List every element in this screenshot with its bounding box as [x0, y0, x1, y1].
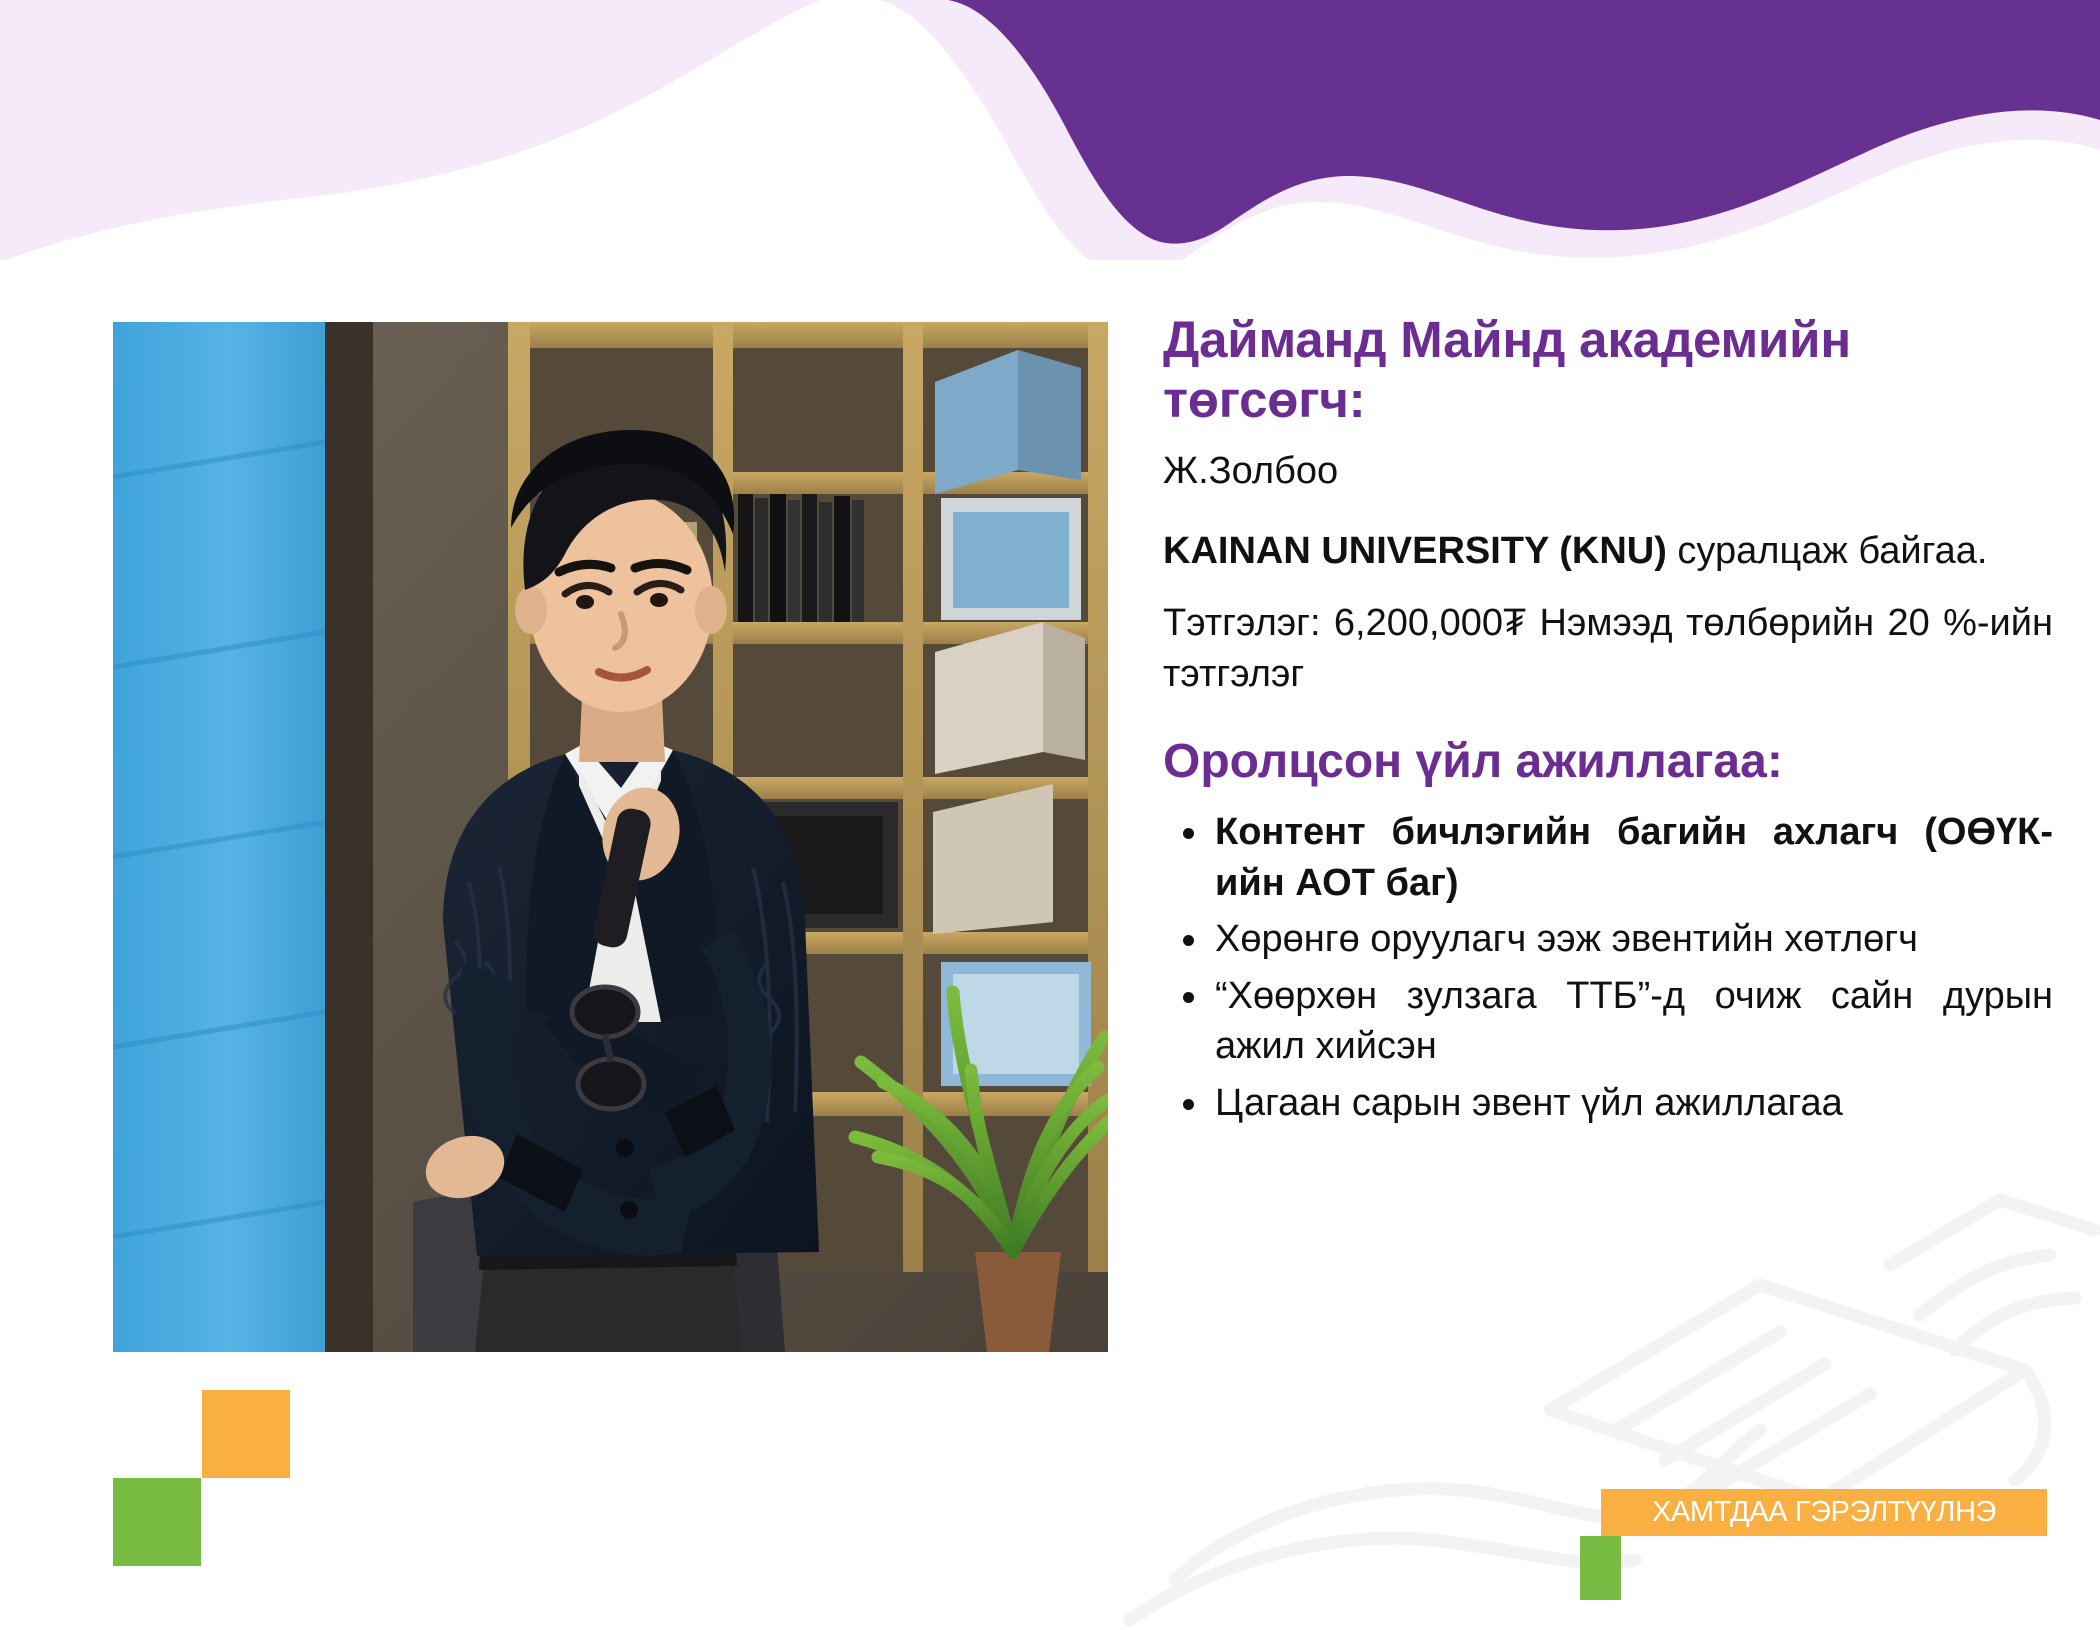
graduate-photo: [113, 322, 1108, 1352]
university-status: суралцаж байгаа.: [1667, 530, 1988, 572]
decor-square-green: [113, 1478, 201, 1566]
wave-lavender-shape: [0, 0, 2100, 260]
top-wave-decoration: [0, 0, 2100, 260]
wave-purple-shape: [930, 0, 2100, 244]
footer-slogan-text: ХАМТДАА ГЭРЭЛТҮҮЛНЭ: [1652, 1496, 1996, 1529]
activities-title: Оролцсон үйл ажиллагаа:: [1163, 733, 2053, 791]
slide-canvas: Дайманд Майнд академийн төгсөгч: Ж.Золбо…: [0, 0, 2100, 1630]
footer-slogan-banner: ХАМТДАА ГЭРЭЛТҮҮЛНЭ: [1601, 1489, 2047, 1536]
list-item: Цагаан сарын эвент үйл ажиллагаа: [1163, 1078, 2053, 1129]
activities-list: Контент бичлэгийн багийн ахлагч (ОӨҮК-ий…: [1163, 807, 2053, 1128]
scholarship-line: Тэтгэлэг: 6,200,000₮ Нэмээд төлбөрийн 20…: [1163, 598, 2053, 699]
decor-square-orange: [202, 1390, 290, 1478]
university-name: KAINAN UNIVERSITY (KNU): [1163, 530, 1667, 572]
graduate-name: Ж.Золбоо: [1163, 448, 2053, 496]
list-item: “Хөөрхөн зулзага ТТБ”-д очиж сайн дурын …: [1163, 971, 2053, 1072]
list-item: Контент бичлэгийн багийн ахлагч (ОӨҮК-ий…: [1163, 807, 2053, 908]
university-line: KAINAN UNIVERSITY (KNU) суралцаж байгаа.: [1163, 526, 2053, 577]
content-column: Дайманд Майнд академийн төгсөгч: Ж.Золбо…: [1163, 310, 2053, 1134]
footer-green-accent: [1580, 1536, 1621, 1600]
graduate-photo-illustration: [113, 322, 1108, 1352]
page-title: Дайманд Майнд академийн төгсөгч:: [1163, 310, 2053, 430]
list-item: Хөрөнгө оруулагч ээж эвентийн хөтлөгч: [1163, 914, 2053, 965]
